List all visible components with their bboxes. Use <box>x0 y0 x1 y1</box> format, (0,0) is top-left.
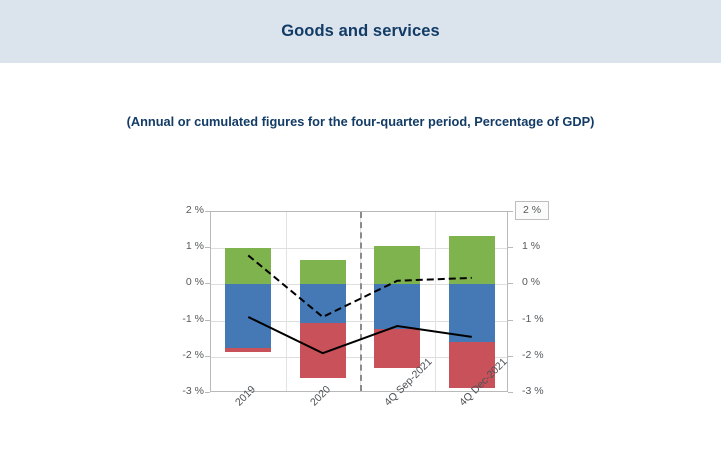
y-axis-tick-label-right-highlighted[interactable]: 2 % <box>515 201 549 220</box>
y-axis-tick-label-left: -1 % <box>168 313 204 325</box>
y-axis-tick-label-right: -2 % <box>522 349 544 361</box>
line-overlay <box>211 212 509 393</box>
y-axis-tick-label-right: 1 % <box>522 240 540 252</box>
y-axis-tick-label-left: -2 % <box>168 349 204 361</box>
y-tick-mark-left <box>205 392 210 393</box>
y-axis-tick-label-right: -1 % <box>522 313 544 325</box>
y-axis-tick-label-left: -3 % <box>168 385 204 397</box>
y-axis-tick-label-right: 0 % <box>522 276 540 288</box>
chart-container: 2 %2 %1 %1 %0 %0 %-1 %-1 %-2 %-2 %-3 %-3… <box>0 0 721 466</box>
line-series-dashed <box>248 255 472 317</box>
plot-area <box>210 211 508 392</box>
y-axis-tick-label-left: 0 % <box>168 276 204 288</box>
line-series-solid <box>248 317 472 353</box>
y-axis-tick-label-right: -3 % <box>522 385 544 397</box>
y-axis-tick-label-left: 1 % <box>168 240 204 252</box>
y-axis-tick-label-left: 2 % <box>168 204 204 216</box>
